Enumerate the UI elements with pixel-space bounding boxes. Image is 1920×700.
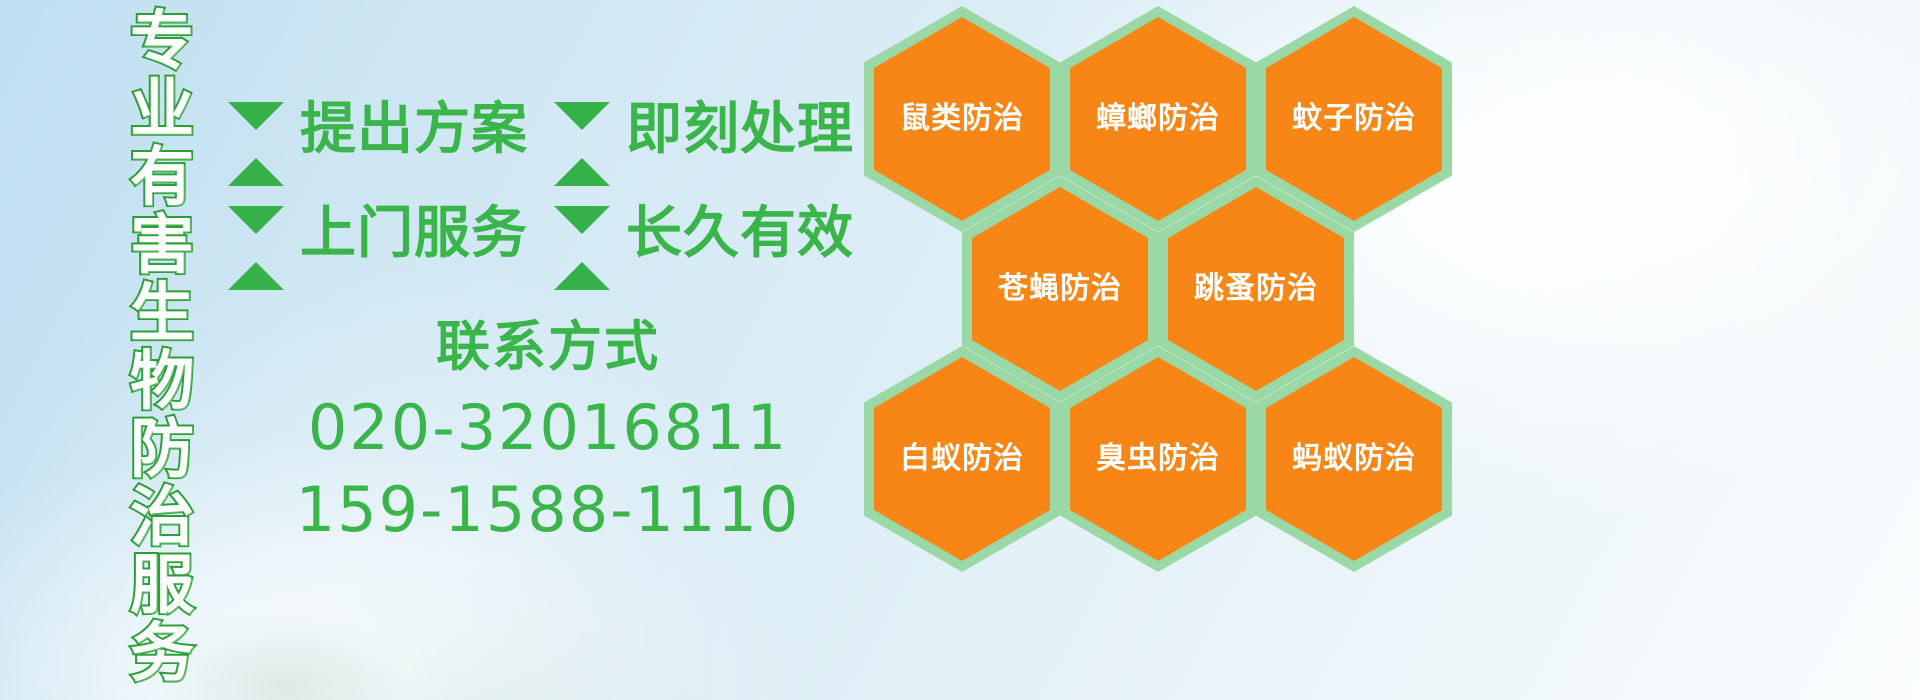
phone-number-mobile[interactable]: 159-1588-1110 — [228, 470, 868, 550]
vertical-headline-char: 业 — [130, 76, 194, 144]
hex-inner: 蚂蚁防治 — [1266, 357, 1442, 561]
service-label: 苍蝇防治 — [998, 272, 1122, 306]
hex-inner: 苍蝇防治 — [972, 187, 1148, 391]
service-label: 跳蚤防治 — [1194, 272, 1318, 306]
feature-item-propose-plan: 提出方案 — [228, 102, 528, 158]
hex-inner: 白蚁防治 — [874, 357, 1050, 561]
service-honeycomb: 鼠类防治 蟑螂防治 蚊子防治 苍蝇防治 跳蚤防治 白蚁防治 — [858, 0, 1458, 700]
feature-label: 即刻处理 — [626, 102, 854, 158]
vertical-headline-char: 服 — [130, 552, 194, 620]
feature-item-long-lasting: 长久有效 — [554, 206, 854, 262]
service-label: 蚊子防治 — [1292, 102, 1416, 136]
service-label: 蟑螂防治 — [1096, 102, 1220, 136]
vertical-headline-char: 防 — [130, 416, 194, 484]
diamond-icon — [554, 206, 610, 262]
feature-item-immediate-handling: 即刻处理 — [554, 102, 854, 158]
vertical-headline-char: 害 — [130, 212, 194, 280]
feature-label: 长久有效 — [626, 206, 854, 262]
diamond-icon — [228, 206, 284, 262]
feature-label: 上门服务 — [300, 206, 528, 262]
background-haze-lower — [230, 570, 750, 700]
hex-inner: 蟑螂防治 — [1070, 17, 1246, 221]
hex-inner: 跳蚤防治 — [1168, 187, 1344, 391]
feature-row: 上门服务 长久有效 — [228, 182, 868, 286]
vertical-headline-char: 有 — [130, 144, 194, 212]
diamond-icon — [228, 102, 284, 158]
vertical-headline-char: 务 — [130, 620, 194, 688]
service-label: 白蚁防治 — [900, 442, 1024, 476]
service-label: 鼠类防治 — [900, 102, 1024, 136]
pest-control-banner: 专 业 有 害 生 物 防 治 服 务 提出方案 即刻处理 上门服务 — [0, 0, 1920, 700]
contact-heading: 联系方式 — [228, 316, 868, 378]
hex-inner: 臭虫防治 — [1070, 357, 1246, 561]
service-label: 蚂蚁防治 — [1292, 442, 1416, 476]
feature-item-onsite-service: 上门服务 — [228, 206, 528, 262]
feature-list: 提出方案 即刻处理 上门服务 长久有效 — [228, 78, 868, 286]
vertical-headline-char: 物 — [130, 348, 194, 416]
vertical-headline-char: 生 — [130, 280, 194, 348]
vertical-headline-char: 专 — [130, 8, 194, 76]
feature-row: 提出方案 即刻处理 — [228, 78, 868, 182]
vertical-headline: 专 业 有 害 生 物 防 治 服 务 — [104, 8, 220, 568]
hex-inner: 蚊子防治 — [1266, 17, 1442, 221]
service-label: 臭虫防治 — [1096, 442, 1220, 476]
feature-label: 提出方案 — [300, 102, 528, 158]
contact-block: 联系方式 020-32016811 159-1588-1110 — [228, 316, 868, 550]
vertical-headline-char: 治 — [130, 484, 194, 552]
hex-inner: 鼠类防治 — [874, 17, 1050, 221]
diamond-icon — [554, 102, 610, 158]
phone-number-landline[interactable]: 020-32016811 — [228, 388, 868, 468]
